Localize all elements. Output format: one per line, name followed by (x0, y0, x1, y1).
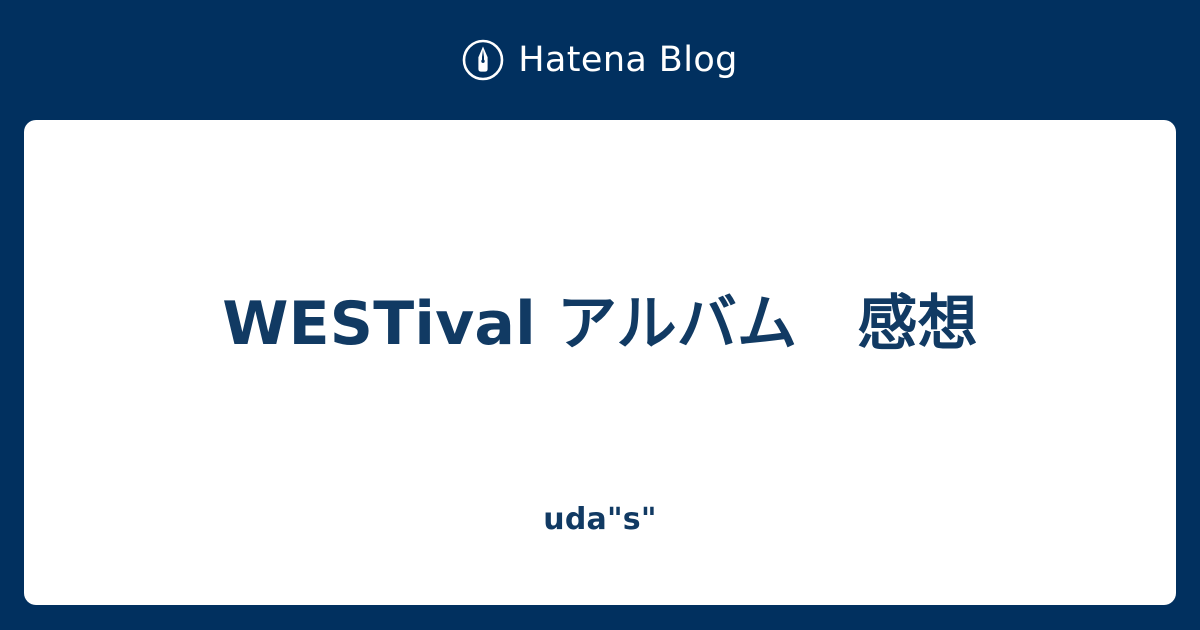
brand-name-label: Hatena Blog (518, 43, 738, 78)
hatena-pen-nib-logo-icon (462, 39, 504, 81)
brand-logo (462, 39, 504, 81)
entry-card: WESTival アルバム 感想 uda"s" (24, 120, 1176, 605)
service-header: Hatena Blog (0, 0, 1200, 120)
entry-title: WESTival アルバム 感想 (24, 288, 1176, 361)
share-card-canvas: Hatena Blog WESTival アルバム 感想 uda"s" (0, 0, 1200, 630)
blog-name: uda"s" (24, 502, 1176, 538)
